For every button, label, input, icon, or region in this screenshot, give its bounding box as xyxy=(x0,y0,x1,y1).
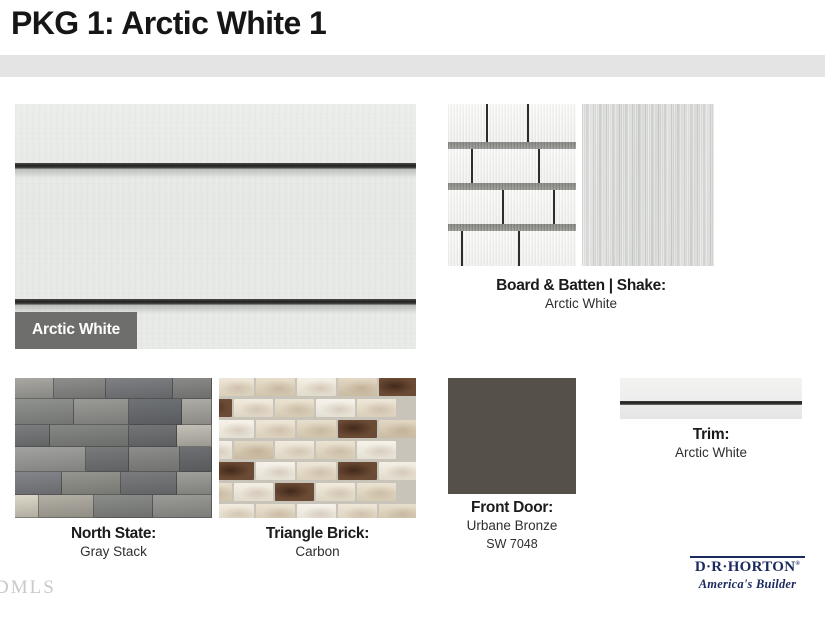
stone-unit xyxy=(15,425,50,447)
brick-row xyxy=(219,420,416,438)
brick-unit xyxy=(316,399,355,417)
caption-color-code: SW 7048 xyxy=(448,536,576,553)
swatch-stone[interactable] xyxy=(15,378,212,518)
brick-unit xyxy=(256,462,295,480)
lap-siding-shadow-line xyxy=(15,163,416,169)
stone-row xyxy=(15,378,212,399)
shake-joint xyxy=(553,186,555,227)
brick-unit xyxy=(357,483,396,501)
brick-unit xyxy=(338,504,377,518)
stone-row xyxy=(15,399,212,425)
brick-unit xyxy=(219,399,232,417)
brick-row xyxy=(219,399,398,417)
caption-subtitle: Gray Stack xyxy=(15,543,212,561)
stone-unit xyxy=(173,378,212,399)
caption-subtitle: Urbane Bronze xyxy=(448,517,576,535)
caption-title: North State: xyxy=(15,524,212,543)
brick-unit xyxy=(256,378,295,396)
shake-joint xyxy=(486,104,488,145)
brick-unit xyxy=(219,378,254,396)
brick-unit xyxy=(219,483,232,501)
stone-unit xyxy=(54,378,105,399)
brick-unit xyxy=(256,420,295,438)
stone-row xyxy=(15,425,212,447)
caption-title: Triangle Brick: xyxy=(219,524,416,543)
stone-unit xyxy=(50,425,129,447)
swatch-brick[interactable] xyxy=(219,378,416,518)
watermark: DMLS xyxy=(0,577,56,599)
stone-row xyxy=(15,472,212,495)
brick-unit xyxy=(234,441,273,459)
stone-unit xyxy=(94,495,153,518)
color-package-board: PKG 1: Arctic White 1 Arctic White Board… xyxy=(0,0,825,619)
shake-joint xyxy=(527,104,529,145)
dr-horton-logo: D·R·HORTON® America's Builder xyxy=(690,556,805,592)
brick-unit xyxy=(219,420,254,438)
stone-unit xyxy=(129,447,180,472)
stone-row xyxy=(15,495,212,518)
brick-unit xyxy=(338,462,377,480)
caption-subtitle: Arctic White xyxy=(448,295,714,313)
stone-unit xyxy=(180,447,212,472)
lap-siding-color-tag: Arctic White xyxy=(15,312,137,349)
brick-unit xyxy=(297,378,336,396)
registered-trademark-icon: ® xyxy=(795,561,800,567)
brick-unit xyxy=(357,441,396,459)
brick-unit xyxy=(379,504,416,518)
logo-name-text: D·R·HORTON xyxy=(695,559,796,575)
brick-unit xyxy=(275,399,314,417)
caption-stone: North State: Gray Stack xyxy=(15,524,212,562)
logo-wordmark: D·R·HORTON® xyxy=(690,559,805,576)
brick-unit xyxy=(219,504,254,518)
stone-unit xyxy=(15,378,54,399)
stone-unit xyxy=(62,472,121,495)
shake-joint xyxy=(471,145,473,186)
caption-subtitle: Arctic White xyxy=(620,444,802,462)
lap-siding-shadow-line xyxy=(15,299,416,305)
shake-course xyxy=(448,227,576,266)
stone-unit xyxy=(74,399,129,425)
caption-trim: Trim: Arctic White xyxy=(620,425,802,463)
stone-unit xyxy=(129,399,182,425)
swatch-lap-siding[interactable]: Arctic White xyxy=(15,104,416,349)
logo-tagline: America's Builder xyxy=(690,577,805,592)
stone-unit xyxy=(129,425,176,447)
caption-board-batten-shake: Board & Batten | Shake: Arctic White xyxy=(448,276,714,314)
trim-shadow-line xyxy=(620,401,802,405)
caption-front-door: Front Door: Urbane Bronze SW 7048 xyxy=(448,498,576,552)
stone-unit xyxy=(15,495,39,518)
brick-row xyxy=(219,462,416,480)
brick-row xyxy=(219,378,416,396)
shake-joint xyxy=(461,227,463,266)
stone-unit xyxy=(182,399,212,425)
brick-unit xyxy=(297,420,336,438)
shake-joint xyxy=(538,145,540,186)
brick-unit xyxy=(275,483,314,501)
brick-unit xyxy=(338,420,377,438)
shake-course-shadow xyxy=(448,142,576,149)
brick-unit xyxy=(256,504,295,518)
stone-unit xyxy=(15,399,74,425)
brick-unit xyxy=(338,378,377,396)
brick-unit xyxy=(234,399,273,417)
brick-unit xyxy=(297,504,336,518)
brick-unit xyxy=(316,483,355,501)
shake-course-shadow xyxy=(448,224,576,231)
brick-unit xyxy=(379,378,416,396)
stone-unit xyxy=(153,495,212,518)
brick-unit xyxy=(219,462,254,480)
shake-joint xyxy=(502,186,504,227)
shake-course xyxy=(448,145,576,186)
stone-unit xyxy=(177,425,212,447)
brick-row xyxy=(219,504,416,518)
swatch-board-and-batten[interactable] xyxy=(582,104,714,266)
stone-unit xyxy=(121,472,176,495)
trim-texture xyxy=(620,378,802,419)
header-divider-band xyxy=(0,55,825,77)
caption-title: Board & Batten | Shake: xyxy=(448,276,714,295)
caption-subtitle: Carbon xyxy=(219,543,416,561)
brick-row xyxy=(219,483,398,501)
stone-unit xyxy=(86,447,129,472)
swatch-shake[interactable] xyxy=(448,104,576,266)
stone-unit xyxy=(177,472,212,495)
shake-course xyxy=(448,186,576,227)
brick-row xyxy=(219,441,398,459)
shake-joint xyxy=(518,227,520,266)
board-grain-texture xyxy=(582,104,714,266)
brick-unit xyxy=(357,399,396,417)
shake-course-shadow xyxy=(448,183,576,190)
brick-unit xyxy=(379,420,416,438)
caption-title: Trim: xyxy=(620,425,802,444)
brick-unit xyxy=(316,441,355,459)
brick-unit xyxy=(379,462,416,480)
logo-rule xyxy=(690,556,805,558)
caption-brick: Triangle Brick: Carbon xyxy=(219,524,416,562)
stone-row xyxy=(15,447,212,472)
brick-unit xyxy=(275,441,314,459)
brick-unit xyxy=(234,483,273,501)
swatch-trim[interactable] xyxy=(620,378,802,419)
shake-course xyxy=(448,104,576,145)
caption-title: Front Door: xyxy=(448,498,576,517)
stone-unit xyxy=(39,495,94,518)
stone-unit xyxy=(106,378,173,399)
brick-unit xyxy=(297,462,336,480)
stone-unit xyxy=(15,447,86,472)
swatch-front-door[interactable] xyxy=(448,378,576,494)
stone-unit xyxy=(15,472,62,495)
brick-unit xyxy=(219,441,232,459)
page-title: PKG 1: Arctic White 1 xyxy=(11,5,326,42)
